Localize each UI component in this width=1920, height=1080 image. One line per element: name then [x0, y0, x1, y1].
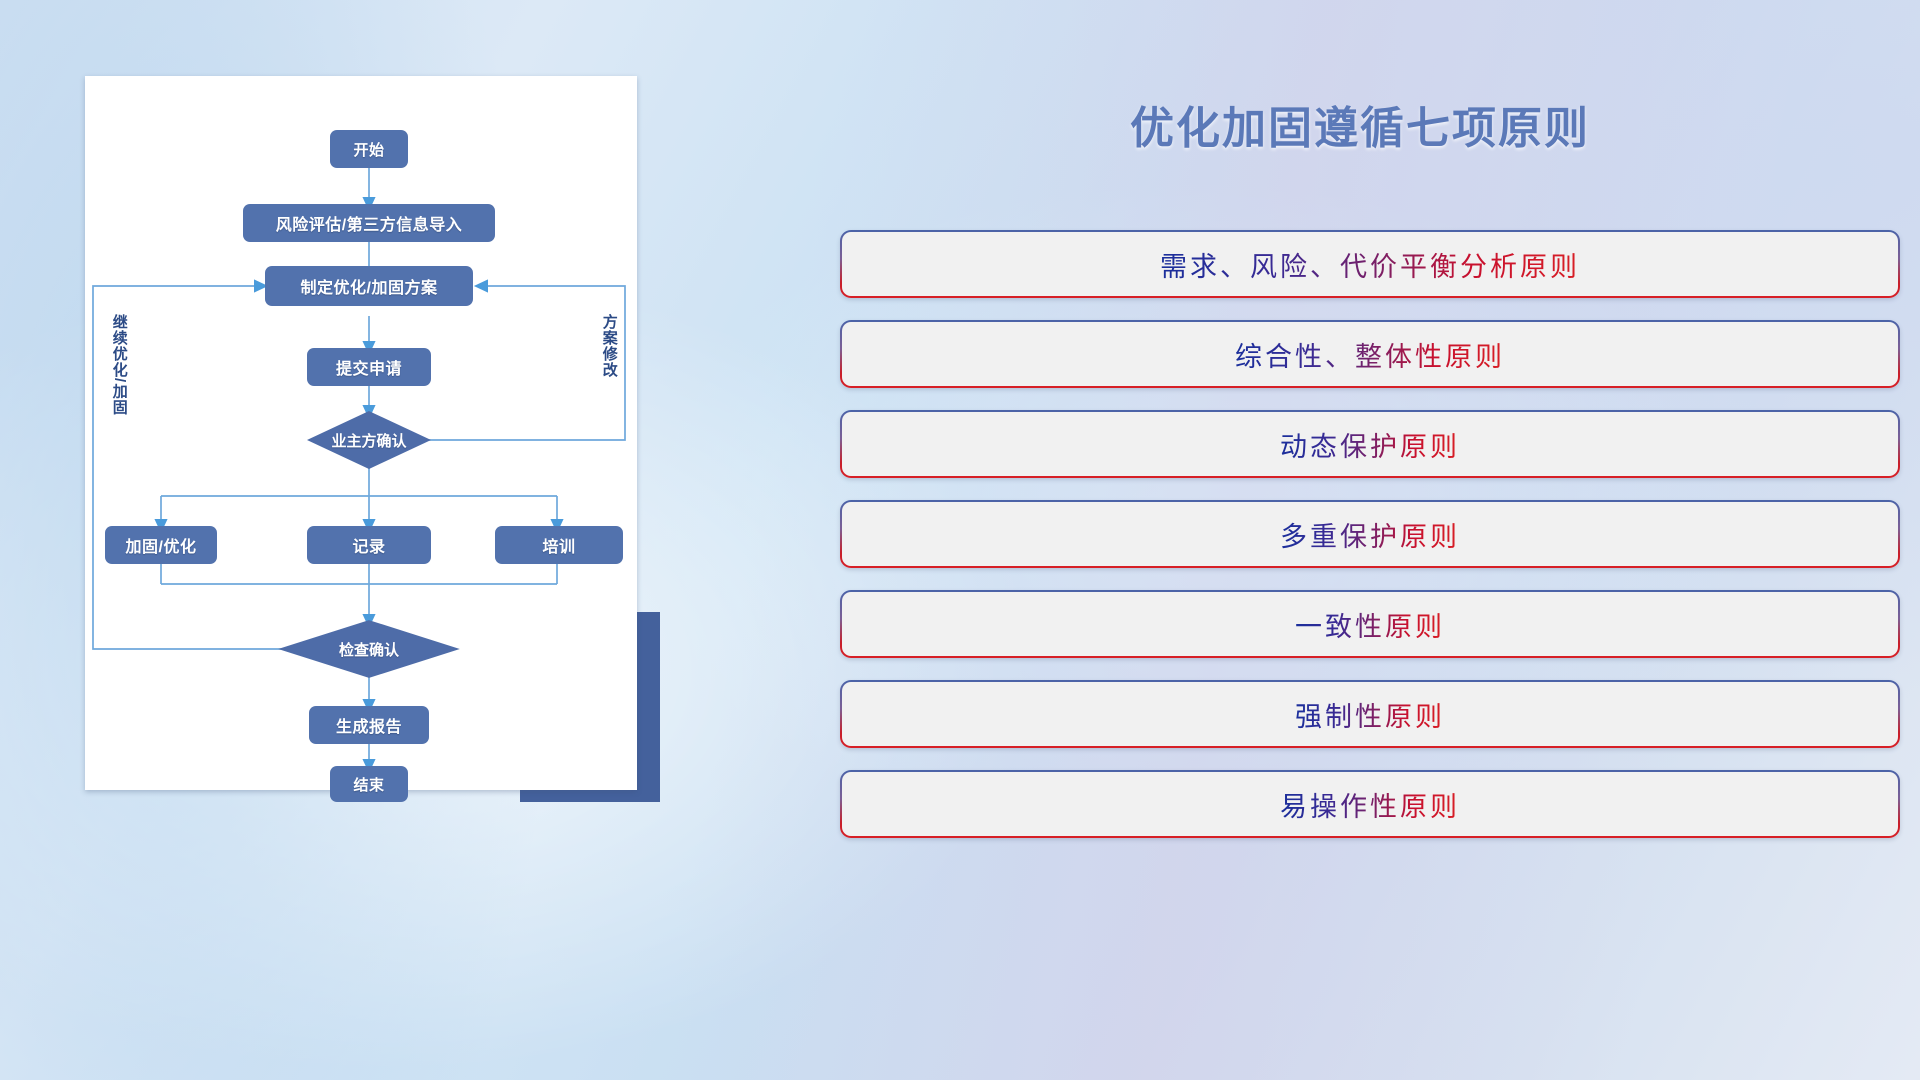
principle-card-inner: 强制性原则 — [842, 682, 1898, 746]
flow-node-record-label: 记录 — [352, 533, 385, 557]
principle-card-inner: 多重保护原则 — [842, 502, 1898, 566]
principle-card[interactable]: 综合性、整体性原则 — [840, 320, 1900, 388]
flow-node-end-label: 结束 — [353, 774, 384, 795]
flow-node-risk-assessment[interactable]: 风险评估/第三方信息导入 — [243, 204, 495, 242]
principle-card[interactable]: 易操作性原则 — [840, 770, 1900, 838]
principle-label: 多重保护原则 — [1280, 515, 1460, 554]
principle-label: 强制性原则 — [1295, 695, 1445, 734]
flow-node-reinforce[interactable]: 加固/优化 — [105, 526, 217, 564]
principle-card[interactable]: 一致性原则 — [840, 590, 1900, 658]
flow-edge-label-continue-optimize: 继续优化/加固 — [111, 314, 127, 444]
flow-node-training[interactable]: 培训 — [495, 526, 623, 564]
principle-card[interactable]: 多重保护原则 — [840, 500, 1900, 568]
flow-node-report[interactable]: 生成报告 — [309, 706, 429, 744]
flow-node-submit[interactable]: 提交申请 — [307, 348, 431, 386]
principle-label: 综合性、整体性原则 — [1235, 335, 1505, 374]
flow-node-end[interactable]: 结束 — [330, 766, 408, 802]
page-title: 优化加固遵循七项原则 — [820, 92, 1900, 156]
flowchart-connectors — [85, 76, 637, 790]
principle-label: 需求、风险、代价平衡分析原则 — [1160, 245, 1580, 284]
principles-pane: 优化加固遵循七项原则 需求、风险、代价平衡分析原则 综合性、整体性原则 动态保护… — [820, 0, 1920, 1080]
flow-node-risk-assessment-label: 风险评估/第三方信息导入 — [276, 211, 462, 235]
flow-edge-label-plan-revision: 方案修改 — [601, 314, 617, 418]
flow-node-record[interactable]: 记录 — [307, 526, 431, 564]
principle-label: 易操作性原则 — [1280, 785, 1460, 824]
flow-node-training-label: 培训 — [542, 533, 575, 557]
flow-node-plan[interactable]: 制定优化/加固方案 — [265, 266, 473, 306]
flow-node-plan-label: 制定优化/加固方案 — [301, 274, 438, 298]
principle-card-inner: 一致性原则 — [842, 592, 1898, 656]
flow-node-reinforce-label: 加固/优化 — [126, 533, 197, 557]
principle-card-inner: 需求、风险、代价平衡分析原则 — [842, 232, 1898, 296]
flowchart-panel: 开始 风险评估/第三方信息导入 制定优化/加固方案 提交申请 业主方确认 加固/… — [85, 76, 637, 790]
principle-label: 一致性原则 — [1295, 605, 1445, 644]
principle-card-inner: 动态保护原则 — [842, 412, 1898, 476]
flow-node-start-label: 开始 — [353, 139, 384, 160]
principle-card[interactable]: 动态保护原则 — [840, 410, 1900, 478]
flow-node-report-label: 生成报告 — [336, 713, 402, 737]
principle-card-inner: 综合性、整体性原则 — [842, 322, 1898, 386]
principle-card-inner: 易操作性原则 — [842, 772, 1898, 836]
principles-card-list: 需求、风险、代价平衡分析原则 综合性、整体性原则 动态保护原则 多重保护原则 一… — [840, 230, 1900, 860]
principle-label: 动态保护原则 — [1280, 425, 1460, 464]
principle-card[interactable]: 需求、风险、代价平衡分析原则 — [840, 230, 1900, 298]
flow-node-start[interactable]: 开始 — [330, 130, 408, 168]
principle-card[interactable]: 强制性原则 — [840, 680, 1900, 748]
flow-node-submit-label: 提交申请 — [336, 355, 402, 379]
